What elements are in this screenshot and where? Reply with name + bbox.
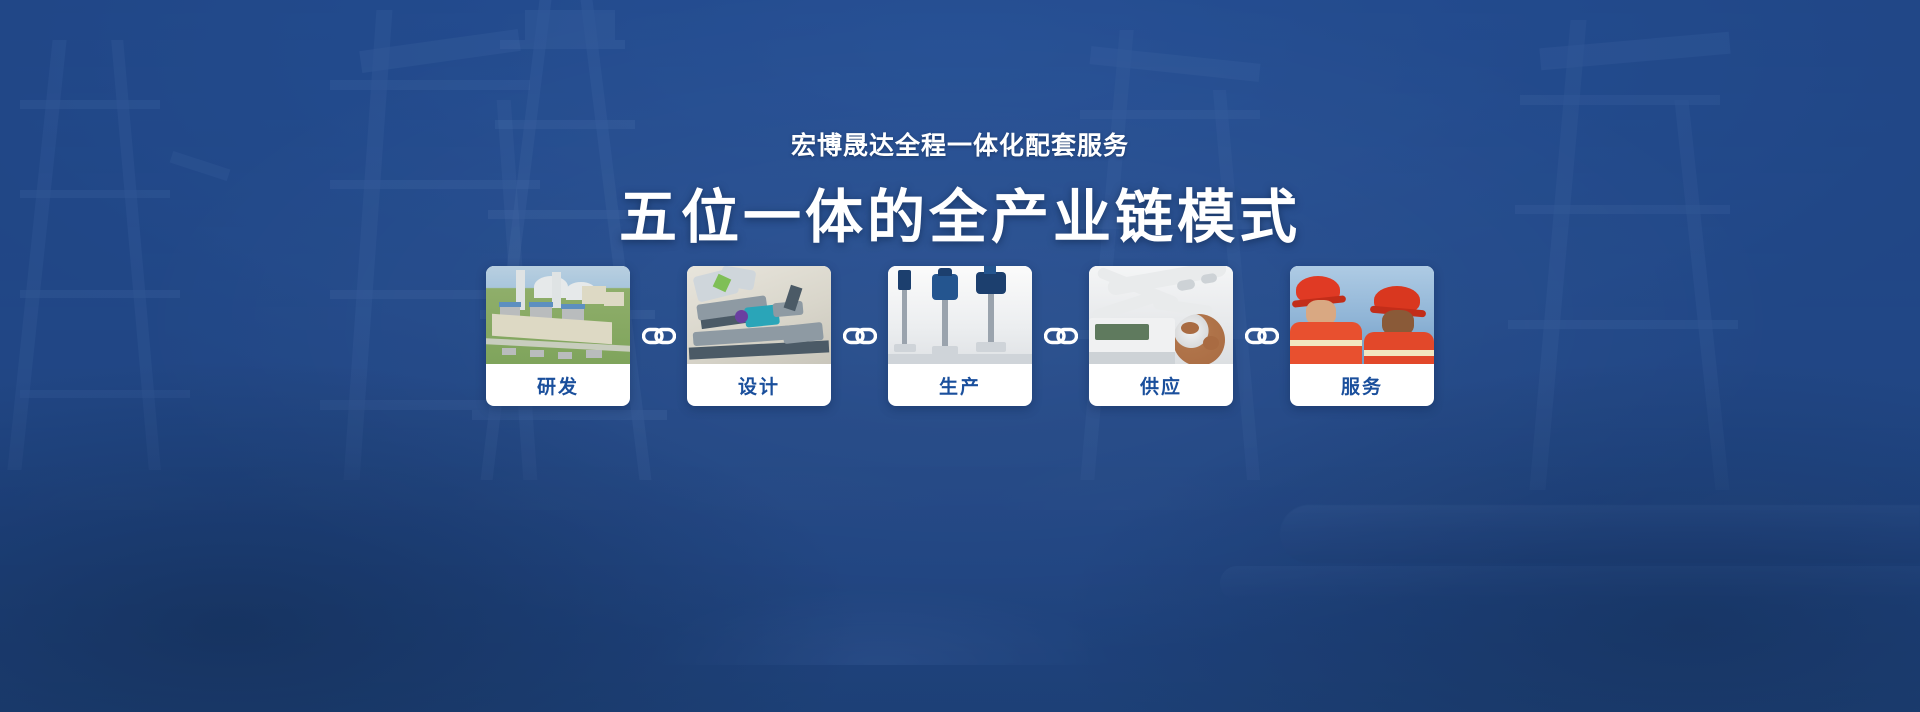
chain-card-design[interactable]: 设计	[687, 266, 831, 406]
value-chain-row: 研发	[0, 266, 1920, 406]
machining-design-illustration	[687, 266, 831, 364]
chain-card-image-service	[1290, 266, 1434, 364]
chain-connector-1	[630, 266, 687, 406]
banner-title: 五位一体的全产业链模式	[0, 170, 1920, 254]
logistics-supply-illustration	[1089, 266, 1233, 364]
chain-card-service[interactable]: 服务	[1290, 266, 1434, 406]
chain-card-image-production	[888, 266, 1032, 364]
chain-connector-2	[831, 266, 888, 406]
chain-card-label-service: 服务	[1290, 364, 1434, 406]
chain-link-icon	[642, 325, 676, 347]
chain-card-image-design	[687, 266, 831, 364]
banner-subtitle: 宏博晟达全程一体化配套服务	[0, 126, 1920, 162]
chain-card-label-production: 生产	[888, 364, 1032, 406]
instrument-production-illustration	[888, 266, 1032, 364]
chain-connector-4	[1233, 266, 1290, 406]
banner-content: 宏博晟达全程一体化配套服务 五位一体的全产业链模式	[0, 0, 1920, 712]
chain-card-image-supply	[1089, 266, 1233, 364]
chain-card-research[interactable]: 研发	[486, 266, 630, 406]
power-plant-illustration	[486, 266, 630, 364]
chain-card-label-supply: 供应	[1089, 364, 1233, 406]
chain-link-icon	[843, 325, 877, 347]
field-service-workers-illustration	[1290, 266, 1434, 364]
chain-link-icon	[1245, 325, 1279, 347]
chain-card-label-research: 研发	[486, 364, 630, 406]
chain-card-image-research	[486, 266, 630, 364]
chain-connector-3	[1032, 266, 1089, 406]
chain-link-icon	[1044, 325, 1078, 347]
chain-card-production[interactable]: 生产	[888, 266, 1032, 406]
chain-card-supply[interactable]: 供应	[1089, 266, 1233, 406]
chain-card-label-design: 设计	[687, 364, 831, 406]
